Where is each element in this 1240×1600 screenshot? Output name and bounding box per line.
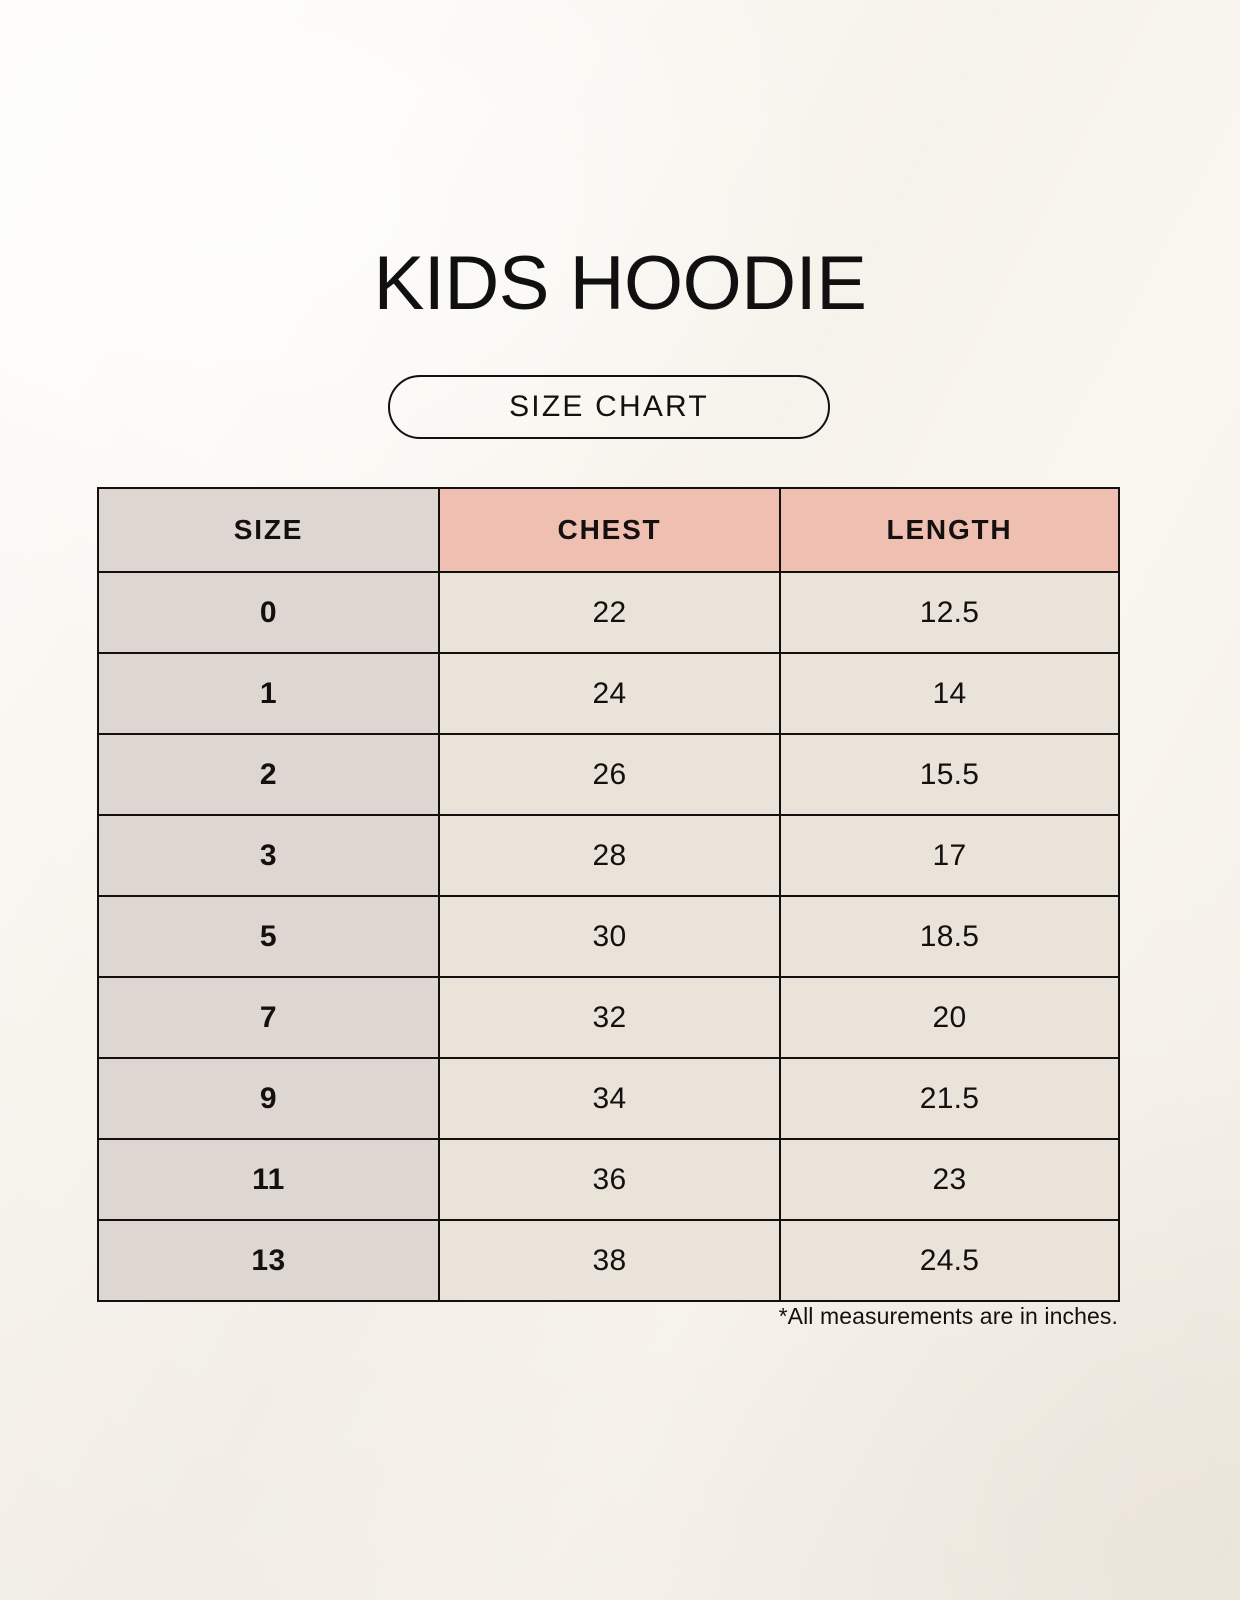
cell-length: 15.5 [780,734,1119,815]
cell-size: 2 [98,734,439,815]
cell-chest: 36 [439,1139,780,1220]
cell-length: 17 [780,815,1119,896]
cell-size: 1 [98,653,439,734]
cell-size: 5 [98,896,439,977]
cell-chest: 22 [439,572,780,653]
table-row: 73220 [98,977,1119,1058]
table-header-row: SIZE CHEST LENGTH [98,488,1119,572]
cell-length: 23 [780,1139,1119,1220]
cell-chest: 38 [439,1220,780,1301]
cell-chest: 34 [439,1058,780,1139]
column-header-length: LENGTH [780,488,1119,572]
table-row: 22615.5 [98,734,1119,815]
cell-length: 20 [780,977,1119,1058]
cell-chest: 28 [439,815,780,896]
cell-chest: 24 [439,653,780,734]
table-row: 12414 [98,653,1119,734]
size-chart-page: KIDS HOODIE SIZE CHART SIZE CHEST LENGTH… [0,0,1240,1600]
table-row: 02212.5 [98,572,1119,653]
column-header-chest: CHEST [439,488,780,572]
cell-length: 24.5 [780,1220,1119,1301]
cell-length: 21.5 [780,1058,1119,1139]
size-table-header: SIZE CHEST LENGTH [98,488,1119,572]
cell-size: 11 [98,1139,439,1220]
cell-size: 9 [98,1058,439,1139]
table-row: 93421.5 [98,1058,1119,1139]
size-table-body: 02212.51241422615.53281753018.5732209342… [98,572,1119,1301]
cell-length: 12.5 [780,572,1119,653]
cell-chest: 30 [439,896,780,977]
size-table-container: SIZE CHEST LENGTH 02212.51241422615.5328… [97,487,1118,1302]
cell-length: 18.5 [780,896,1119,977]
cell-size: 3 [98,815,439,896]
size-table: SIZE CHEST LENGTH 02212.51241422615.5328… [97,487,1120,1302]
size-chart-badge-label: SIZE CHART [509,390,709,424]
column-header-size: SIZE [98,488,439,572]
page-title: KIDS HOODIE [0,242,1240,326]
cell-size: 7 [98,977,439,1058]
table-row: 32817 [98,815,1119,896]
cell-size: 0 [98,572,439,653]
table-row: 113623 [98,1139,1119,1220]
cell-length: 14 [780,653,1119,734]
table-row: 53018.5 [98,896,1119,977]
cell-chest: 26 [439,734,780,815]
cell-size: 13 [98,1220,439,1301]
cell-chest: 32 [439,977,780,1058]
table-row: 133824.5 [98,1220,1119,1301]
measurements-footnote: *All measurements are in inches. [97,1303,1118,1330]
size-chart-badge: SIZE CHART [388,375,830,439]
